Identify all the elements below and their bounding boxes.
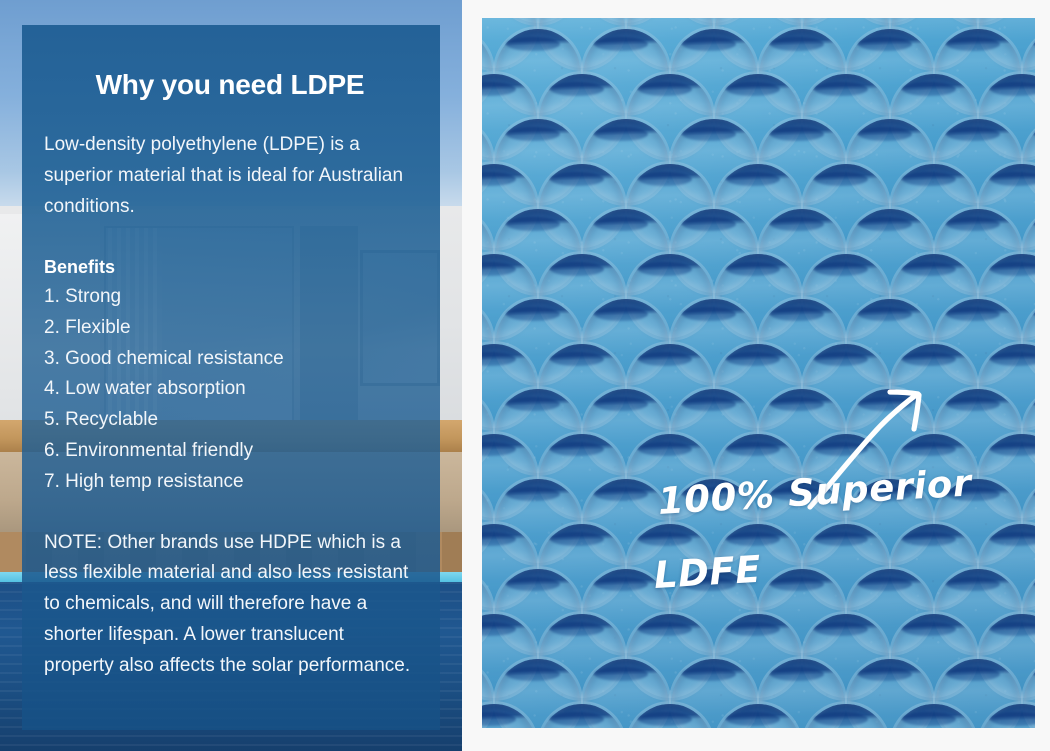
list-item: 3. Good chemical resistance (44, 344, 416, 375)
list-item: 2. Flexible (44, 313, 416, 344)
list-item: 4. Low water absorption (44, 374, 416, 405)
right-product-image: 100% Superior LDFE (482, 18, 1035, 728)
left-info-panel: Why you need LDPE Low-density polyethyle… (0, 0, 462, 751)
list-item: 5. Recyclable (44, 405, 416, 436)
benefits-heading: Benefits (44, 252, 416, 282)
info-overlay-card: Why you need LDPE Low-density polyethyle… (22, 25, 440, 730)
list-item: 7. High temp resistance (44, 467, 416, 498)
note-paragraph: NOTE: Other brands use HDPE which is a l… (44, 528, 416, 682)
list-item: 1. Strong (44, 282, 416, 313)
page-title: Why you need LDPE (44, 55, 416, 101)
list-item: 6. Environmental friendly (44, 436, 416, 467)
intro-paragraph: Low-density polyethylene (LDPE) is a sup… (44, 129, 416, 222)
bubble-grid (482, 18, 1035, 728)
promo-comparison-page: Why you need LDPE Low-density polyethyle… (0, 0, 1050, 751)
benefits-list: 1. Strong 2. Flexible 3. Good chemical r… (44, 282, 416, 498)
